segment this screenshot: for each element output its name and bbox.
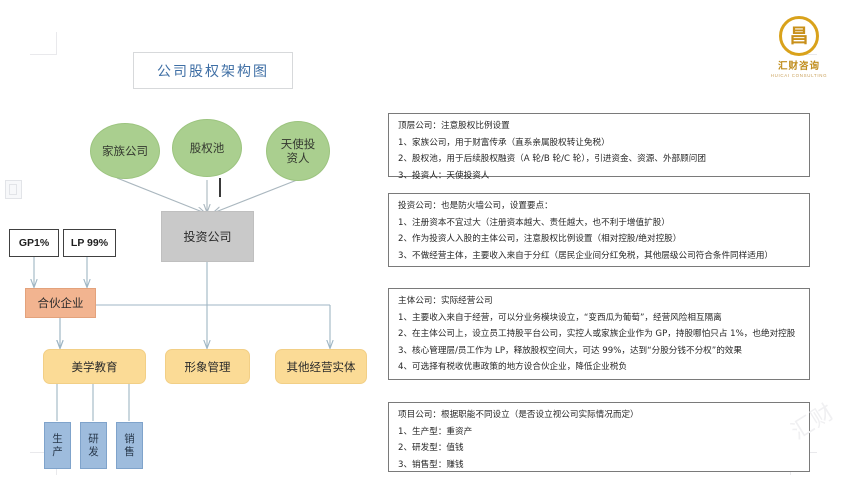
panel-line: 2、在主体公司上，设立员工持股平台公司，实控人或家族企业作为 GP，持股哪怕只占… (398, 329, 800, 339)
node-label: 家族公司 (102, 144, 148, 158)
panel-line: 1、家族公司，用于财富传承（直系亲属股权转让免税） (398, 138, 800, 148)
logo-mark: 昌 (788, 24, 810, 48)
panel-line: 3、不做经营主体，主要收入来自于分红（居民企业间分红免税，其他层级公司符合条件同… (398, 251, 800, 261)
panel-line: 主体公司：实际经营公司 (398, 296, 800, 306)
node-label: GP1% (19, 237, 49, 249)
node-angel-investor[interactable]: 天使投 资人 (266, 121, 330, 181)
node-other-business-entity[interactable]: 其他经营实体 (275, 349, 367, 384)
logo-name-en: HUICAI CONSULTING (762, 73, 836, 78)
panel-line: 3、核心管理层/员工作为 LP，释放股权空间大，可达 99%，达到“分股分钱不分… (398, 346, 800, 356)
logo-emblem-icon: 昌 (779, 16, 819, 56)
node-partnership[interactable]: 合伙企业 (25, 288, 96, 318)
panel-line: 3、销售型：赚钱 (398, 460, 800, 470)
page-edge-glyph-icon (5, 180, 22, 199)
node-lp-share[interactable]: LP 99% (63, 229, 116, 257)
node-label: 合伙企业 (38, 295, 84, 311)
panel-main-company: 主体公司：实际经营公司 1、主要收入来自于经营，可以分业务模块设立，“变西瓜为葡… (388, 288, 810, 380)
text-caret (219, 178, 221, 197)
node-sales[interactable]: 销 售 (116, 422, 143, 469)
node-investment-company[interactable]: 投资公司 (161, 211, 254, 262)
diagram-canvas: 昌 汇财咨询 HUICAI CONSULTING 公司股权架构图 (0, 0, 848, 500)
panel-line: 1、注册资本不宜过大（注册资本越大、责任越大，也不利于增值扩股） (398, 218, 800, 228)
company-logo: 昌 汇财咨询 HUICAI CONSULTING (762, 16, 836, 78)
node-label: 形象管理 (185, 359, 231, 375)
panel-line: 投资公司：也是防火墙公司，设置要点： (398, 201, 800, 211)
node-label: LP 99% (71, 237, 108, 249)
node-gp-share[interactable]: GP1% (9, 229, 59, 257)
node-label: 研 发 (88, 433, 99, 459)
node-label: 投资公司 (183, 228, 231, 245)
crop-mark-top-left (30, 32, 57, 55)
panel-line: 1、主要收入来自于经营，可以分业务模块设立，“变西瓜为葡萄”，经营风险相互隔离 (398, 313, 800, 323)
node-label: 美学教育 (72, 359, 118, 375)
panel-top-layer: 顶层公司：注意股权比例设置 1、家族公司，用于财富传承（直系亲属股权转让免税） … (388, 113, 810, 177)
page-title-text: 公司股权架构图 (157, 61, 269, 81)
panel-line: 1、生产型：重资产 (398, 427, 800, 437)
page-title: 公司股权架构图 (133, 52, 293, 89)
node-label: 其他经营实体 (287, 359, 356, 375)
panel-line: 3、投资人：天使投资人 (398, 171, 800, 181)
node-production[interactable]: 生 产 (44, 422, 71, 469)
node-label: 股权池 (190, 141, 225, 155)
node-label: 生 产 (52, 433, 63, 459)
node-label: 销 售 (124, 433, 135, 459)
panel-line: 2、作为投资人入股的主体公司，注意股权比例设置（相对控股/绝对控股） (398, 234, 800, 244)
panel-investment-company: 投资公司：也是防火墙公司，设置要点： 1、注册资本不宜过大（注册资本越大、责任越… (388, 193, 810, 267)
node-family-company[interactable]: 家族公司 (90, 123, 160, 179)
node-equity-pool[interactable]: 股权池 (172, 119, 242, 177)
panel-line: 2、股权池，用于后续股权融资（A 轮/B 轮/C 轮），引进资金、资源、外部顾问… (398, 154, 800, 164)
panel-line: 4、可选择有税收优惠政策的地方设合伙企业，降低企业税负 (398, 362, 800, 372)
node-aesthetic-education[interactable]: 美学教育 (43, 349, 146, 384)
panel-project-company: 项目公司：根据职能不同设立（是否设立视公司实际情况而定） 1、生产型：重资产 2… (388, 402, 810, 472)
panel-line: 项目公司：根据职能不同设立（是否设立视公司实际情况而定） (398, 410, 800, 420)
node-label: 天使投 资人 (281, 137, 316, 165)
node-rnd[interactable]: 研 发 (80, 422, 107, 469)
node-image-management[interactable]: 形象管理 (165, 349, 250, 384)
panel-line: 2、研发型：值钱 (398, 443, 800, 453)
panel-line: 顶层公司：注意股权比例设置 (398, 121, 800, 131)
logo-name-cn: 汇财咨询 (762, 58, 836, 72)
